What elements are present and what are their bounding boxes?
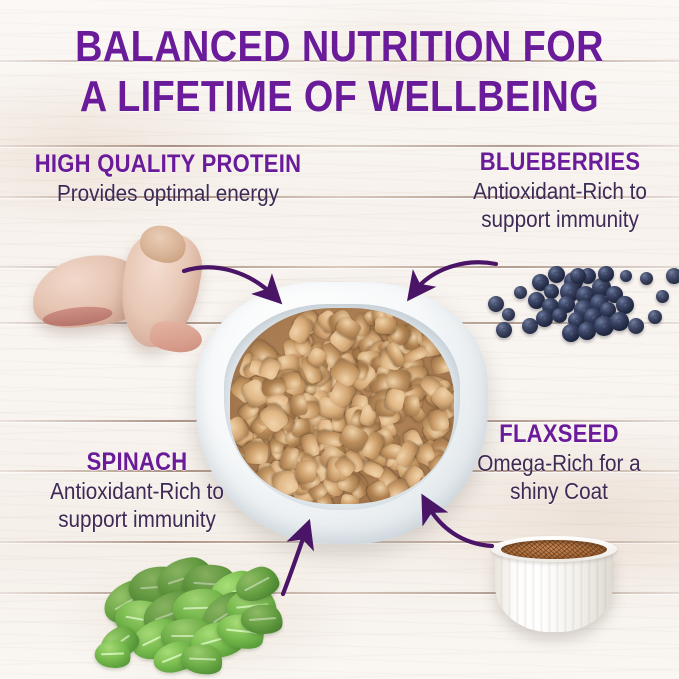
kibble-piece — [294, 460, 316, 483]
blueberry — [570, 268, 586, 284]
blueberry — [620, 270, 632, 282]
flaxseed-contents — [501, 540, 607, 559]
callout-blueberries-line-2: support immunity — [456, 205, 665, 233]
callout-spinach: SPINACH Antioxidant-Rich to support immu… — [12, 448, 262, 533]
chicken-drumstick-base-shape — [147, 317, 204, 357]
callout-flaxseed-line-1: Omega-Rich for a — [452, 449, 666, 477]
callout-flaxseed-line-2: shiny Coat — [452, 477, 666, 505]
blueberries-image — [470, 252, 675, 342]
callout-blueberries-line-1: Antioxidant-Rich to — [456, 177, 665, 205]
kibble-piece — [404, 395, 421, 416]
callout-protein-heading: HIGH QUALITY PROTEIN — [27, 150, 309, 179]
blueberry — [544, 284, 559, 299]
raw-chicken-image — [14, 222, 214, 357]
callout-protein: HIGH QUALITY PROTEIN Provides optimal en… — [8, 150, 328, 207]
kibble-piece — [289, 394, 308, 416]
callout-spinach-line-2: support immunity — [25, 505, 250, 533]
callout-blueberries: BLUEBERRIES Antioxidant-Rich to support … — [444, 148, 676, 233]
blueberry — [496, 322, 512, 338]
callout-spinach-line-1: Antioxidant-Rich to — [25, 477, 250, 505]
callout-flaxseed-heading: FLAXSEED — [454, 420, 663, 449]
kibble-piece — [430, 354, 453, 375]
page-title-line-2: A LIFETIME OF WELLBEING — [48, 72, 632, 122]
flaxseed-bowl-image — [495, 528, 625, 643]
kibble-pile — [230, 308, 454, 504]
spinach-leaves-image — [95, 548, 295, 658]
blueberry — [488, 296, 504, 312]
blueberry — [522, 318, 538, 334]
blueberry — [578, 322, 596, 340]
infographic-canvas: BALANCED NUTRITION FOR A LIFETIME OF WEL… — [0, 0, 679, 679]
page-title-line-1: BALANCED NUTRITION FOR — [48, 22, 632, 72]
blueberry — [656, 290, 669, 303]
blueberry — [640, 272, 653, 285]
callout-flaxseed: FLAXSEED Omega-Rich for a shiny Coat — [440, 420, 678, 505]
blueberry — [598, 266, 614, 282]
callout-protein-line-1: Provides optimal energy — [24, 179, 312, 207]
blueberry — [548, 266, 565, 283]
blueberry — [628, 318, 644, 334]
blueberry — [610, 312, 629, 331]
blueberry — [502, 308, 515, 321]
blueberry — [536, 310, 553, 327]
plank-seam — [0, 145, 679, 147]
blueberry — [648, 310, 662, 324]
callout-spinach-heading: SPINACH — [27, 448, 247, 477]
blueberry — [514, 286, 527, 299]
page-title: BALANCED NUTRITION FOR A LIFETIME OF WEL… — [48, 22, 632, 122]
blueberry — [666, 268, 679, 284]
blueberry — [552, 308, 567, 323]
kibble-piece — [375, 316, 397, 334]
callout-blueberries-heading: BLUEBERRIES — [458, 148, 662, 177]
